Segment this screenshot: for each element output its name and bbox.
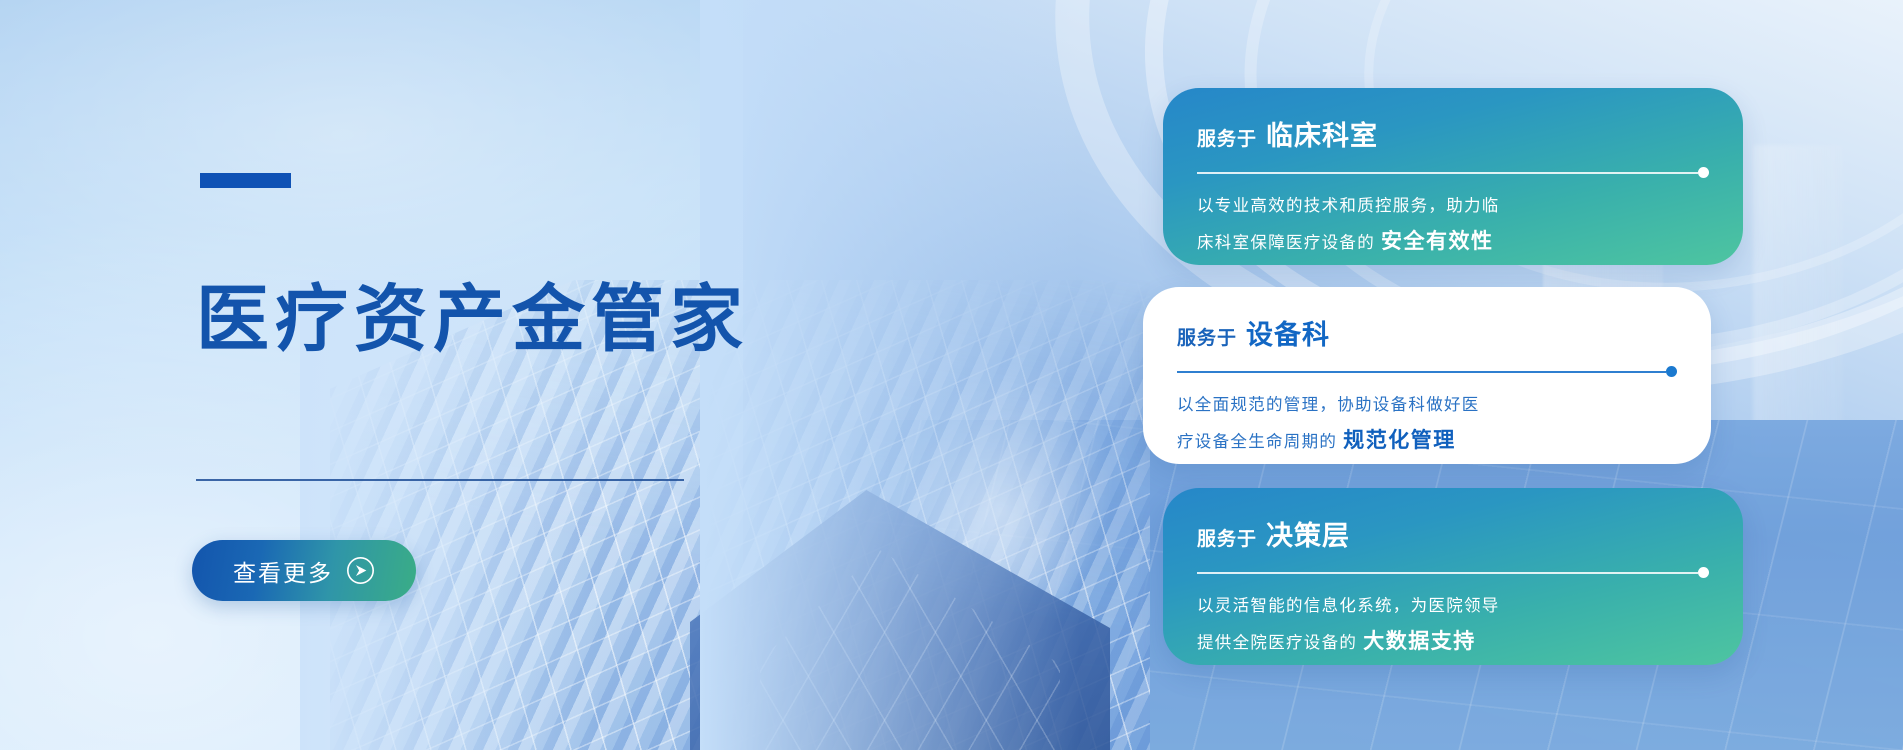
service-card-prefix: 服务于 <box>1197 524 1257 551</box>
description-line-2-normal: 提供全院医疗设备的 <box>1197 633 1357 652</box>
service-card-target: 决策层 <box>1266 514 1350 553</box>
service-card-heading: 服务于 设备科 <box>1177 313 1677 352</box>
service-card-divider <box>1197 567 1709 578</box>
service-card-heading: 服务于 临床科室 <box>1197 114 1709 153</box>
description-line-1: 以灵活智能的信息化系统，为医院领导 <box>1197 591 1709 622</box>
service-card-target: 设备科 <box>1246 313 1330 352</box>
service-card-description: 以全面规范的管理，协助设备科做好医 疗设备全生命周期的规范化管理 <box>1177 390 1677 459</box>
service-card-clinical-department[interactable]: 服务于 临床科室 以专业高效的技术和质控服务，助力临 床科室保障医疗设备的安全有… <box>1163 88 1743 265</box>
service-card-heading: 服务于 决策层 <box>1197 514 1709 553</box>
slider-dot-icon <box>1698 167 1709 178</box>
slider-dot-icon <box>1666 366 1677 377</box>
hero-left-content: 医疗资产金管家 查看更多 <box>0 0 760 750</box>
hero-divider <box>196 479 684 481</box>
service-card-description: 以专业高效的技术和质控服务，助力临 床科室保障医疗设备的安全有效性 <box>1197 191 1709 260</box>
service-card-prefix: 服务于 <box>1177 323 1237 350</box>
slider-dot-icon <box>1698 567 1709 578</box>
circle-arrow-right-icon <box>346 556 375 585</box>
hero-banner: 医疗资产金管家 查看更多 服务于 临床科室 以专业高效的技术和质控服务，助力临 <box>0 0 1903 750</box>
description-line-1: 以全面规范的管理，协助设备科做好医 <box>1177 390 1677 421</box>
service-card-target: 临床科室 <box>1266 114 1378 153</box>
service-card-decision-layer[interactable]: 服务于 决策层 以灵活智能的信息化系统，为医院领导 提供全院医疗设备的大数据支持 <box>1163 488 1743 665</box>
divider-line <box>1197 172 1698 174</box>
description-line-1: 以专业高效的技术和质控服务，助力临 <box>1197 191 1709 222</box>
description-line-2: 疗设备全生命周期的规范化管理 <box>1177 421 1677 460</box>
service-card-list: 服务于 临床科室 以专业高效的技术和质控服务，助力临 床科室保障医疗设备的安全有… <box>1143 0 1903 750</box>
divider-line <box>1197 572 1698 574</box>
service-card-prefix: 服务于 <box>1197 124 1257 151</box>
service-card-description: 以灵活智能的信息化系统，为医院领导 提供全院医疗设备的大数据支持 <box>1197 591 1709 660</box>
description-highlight: 规范化管理 <box>1343 428 1456 452</box>
service-card-divider <box>1177 366 1677 377</box>
view-more-button-label: 查看更多 <box>233 554 333 588</box>
description-highlight: 安全有效性 <box>1381 229 1494 253</box>
description-line-2-normal: 疗设备全生命周期的 <box>1177 432 1337 451</box>
page-title: 医疗资产金管家 <box>196 283 749 356</box>
service-card-equipment-department[interactable]: 服务于 设备科 以全面规范的管理，协助设备科做好医 疗设备全生命周期的规范化管理 <box>1143 287 1711 464</box>
description-line-2: 床科室保障医疗设备的安全有效性 <box>1197 222 1709 261</box>
view-more-button[interactable]: 查看更多 <box>192 540 416 601</box>
description-highlight: 大数据支持 <box>1363 629 1476 653</box>
accent-dash-icon <box>200 173 291 188</box>
description-line-2-normal: 床科室保障医疗设备的 <box>1197 233 1375 252</box>
divider-line <box>1177 371 1666 373</box>
service-card-divider <box>1197 167 1709 178</box>
description-line-2: 提供全院医疗设备的大数据支持 <box>1197 622 1709 661</box>
